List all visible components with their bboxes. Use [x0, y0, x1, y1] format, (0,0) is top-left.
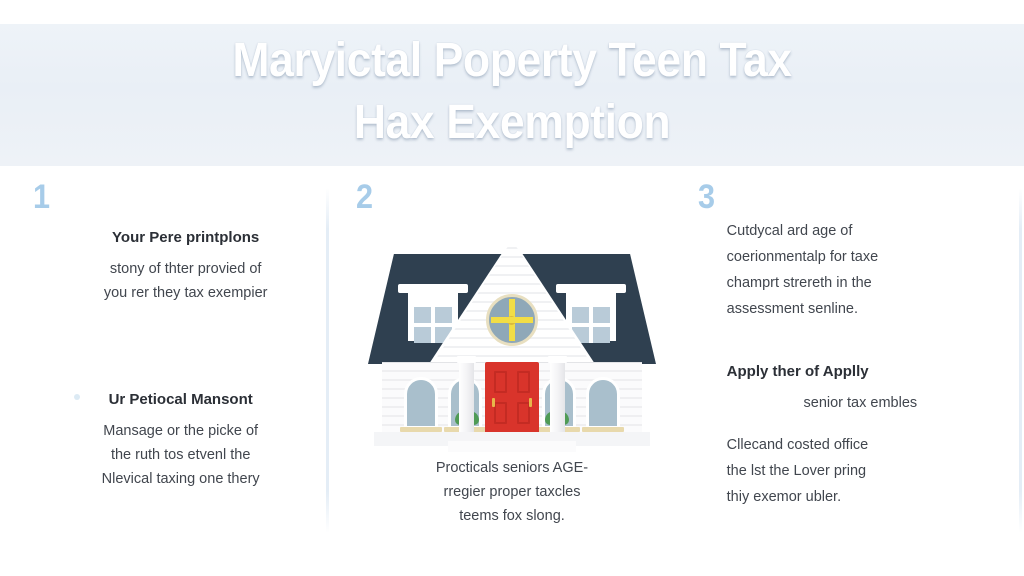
column-1-block-2: Ur Petiocal Mansont Mansage or the picke… — [0, 390, 341, 491]
columns-container: 1 Your Pere printplons stony of thter pr… — [0, 166, 1024, 576]
column-2-caption-text: Procticals seniors AGE- rregier proper t… — [367, 456, 656, 528]
column-1-block-2-body: Mansage or the picke of the ruth tos etv… — [56, 419, 305, 491]
column-3: 3 Cutdycal ard age of coerionmentalp for… — [683, 166, 1024, 576]
column-1-block-1-body: stony of thter provied of you rer they t… — [60, 257, 311, 305]
portico-column-right — [550, 356, 565, 436]
step-upper — [456, 432, 568, 441]
column-3-block-1-body: Cutdycal ard age of coerionmentalp for t… — [727, 218, 990, 322]
front-steps — [448, 432, 576, 452]
column-divider-1 — [326, 188, 329, 533]
round-window-icon — [486, 294, 538, 346]
door-panel-2 — [517, 371, 530, 393]
step-number-2: 2 — [356, 180, 373, 214]
column-3-block-3-body: Cllecand costed office the lst the Lover… — [727, 432, 990, 510]
dormer-left-roof — [398, 284, 468, 293]
column-1: 1 Your Pere printplons stony of thter pr… — [0, 166, 341, 576]
portico-column-left — [459, 356, 474, 436]
step-number-3: 3 — [698, 180, 715, 214]
column-3-block-2-heading: Apply ther of Applly — [727, 362, 994, 382]
column-1-block-1: Your Pere printplons stony of thter prov… — [0, 228, 341, 305]
infographic-canvas: Maryictal Poperty Teen Tax Hax Exemption… — [0, 0, 1024, 576]
house-illustration — [341, 212, 682, 462]
door-knob-icon — [529, 398, 532, 407]
column-3-block-2-body: senior tax embles — [727, 391, 994, 415]
front-door-icon — [485, 362, 539, 436]
portico-capital-right — [548, 356, 567, 363]
arched-window-4 — [586, 377, 620, 429]
column-2: 2 — [341, 166, 682, 576]
dormer-right-roof — [556, 284, 626, 293]
column-1-block-1-heading: Your Pere printplons — [60, 228, 311, 248]
step-lower — [448, 441, 576, 452]
house-graphic — [368, 212, 656, 462]
step-number-1: 1 — [33, 180, 50, 214]
arched-window-1 — [404, 377, 438, 429]
page-title: Maryictal Poperty Teen Tax Hax Exemption — [36, 30, 988, 154]
dormer-right-pane — [572, 307, 610, 343]
column-1-block-2-heading: Ur Petiocal Mansont — [56, 390, 305, 410]
portico-capital-left — [457, 356, 476, 363]
column-2-caption: Procticals seniors AGE- rregier proper t… — [341, 456, 682, 528]
door-knob-secondary-icon — [492, 398, 495, 407]
door-panel-3 — [494, 402, 507, 424]
door-panel-1 — [494, 371, 507, 393]
round-window-hub — [507, 316, 516, 325]
column-3-block-2: Apply ther of Applly senior tax embles — [683, 362, 1024, 415]
column-3-block-1: Cutdycal ard age of coerionmentalp for t… — [683, 218, 1024, 322]
dormer-left-pane — [414, 307, 452, 343]
column-3-block-3: Cllecand costed office the lst the Lover… — [683, 432, 1024, 510]
